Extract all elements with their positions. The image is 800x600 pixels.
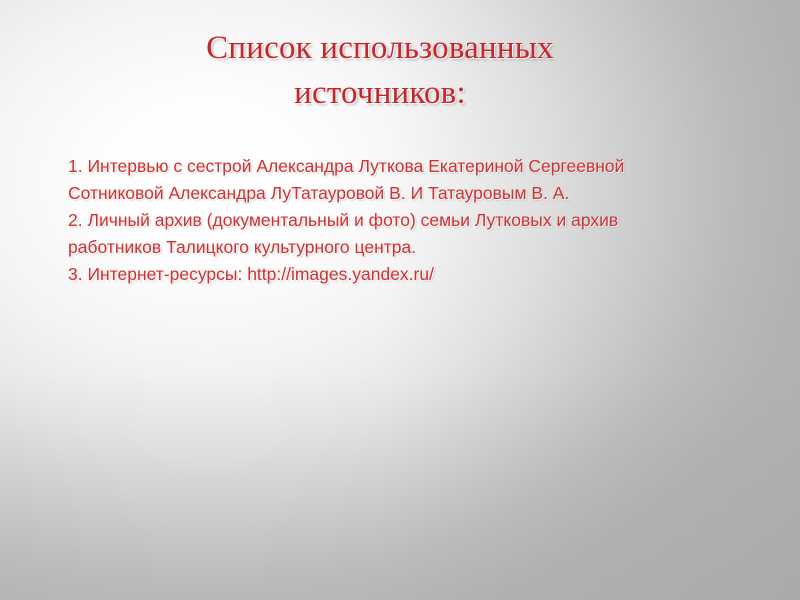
source-line-4: работников Талицкого культурного центра.	[68, 234, 758, 261]
source-line-1: 1. Интервью с сестрой Александра Луткова…	[68, 153, 758, 180]
slide-content: Список использованных источников: 1. Инт…	[0, 0, 800, 600]
slide-title-line-1: Список использованных	[70, 26, 690, 71]
sources-list: 1. Интервью с сестрой Александра Луткова…	[68, 153, 758, 288]
source-line-2: Сотниковой Александра ЛуТатауровой В. И …	[68, 180, 758, 207]
presentation-slide: Список использованных источников: 1. Инт…	[0, 0, 800, 600]
slide-title: Список использованных источников:	[70, 26, 690, 116]
slide-title-line-2: источников:	[70, 71, 690, 116]
source-line-3: 2. Личный архив (документальный и фото) …	[68, 207, 758, 234]
source-line-5: 3. Интернет-ресурсы: http://images.yande…	[68, 261, 758, 288]
